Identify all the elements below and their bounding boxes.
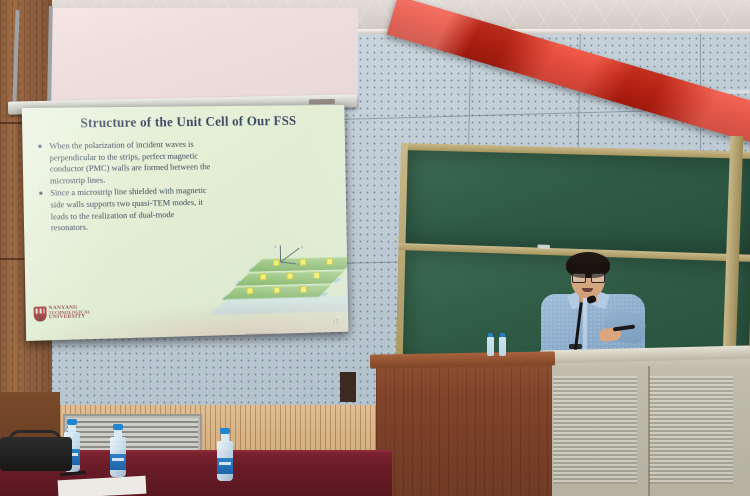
slide-bullet-list: When the polarization of incident waves … bbox=[36, 139, 212, 236]
paper-sheet bbox=[58, 476, 147, 496]
bullet-marker-icon bbox=[39, 192, 42, 195]
svg-text:y: y bbox=[301, 244, 303, 249]
fss-stack-diagram: z y x bbox=[217, 253, 348, 317]
chair-back bbox=[340, 372, 356, 402]
lecture-hall-photo: Structure of the Unit Cell of Our FSS Wh… bbox=[0, 0, 750, 496]
slide-title: Structure of the Unit Cell of Our FSS bbox=[44, 113, 332, 132]
ntu-line3: UNIVERSITY bbox=[49, 315, 91, 321]
ntu-logo: NANYANG TECHNOLOGICAL UNIVERSITY bbox=[34, 304, 92, 321]
chalkboard-clip bbox=[538, 245, 550, 249]
bullet-marker-icon bbox=[38, 145, 41, 148]
water-bottle bbox=[487, 337, 494, 356]
roller-badge bbox=[309, 99, 335, 105]
chalkboard-panel-upper bbox=[406, 150, 750, 255]
svg-text:z: z bbox=[275, 244, 277, 249]
water-bottle bbox=[499, 337, 506, 356]
water-bottle bbox=[217, 441, 233, 481]
side-desk bbox=[376, 360, 552, 496]
bullet-item: Since a microstrip line shielded with ma… bbox=[37, 185, 212, 234]
slide-page-number: 15 bbox=[332, 318, 338, 325]
lectern-panel-divider bbox=[648, 366, 650, 496]
glasses-icon bbox=[572, 273, 604, 281]
laptop-bag bbox=[0, 437, 72, 471]
bullet-text: Since a microstrip line shielded with ma… bbox=[50, 185, 206, 232]
water-bottle bbox=[110, 437, 126, 477]
presentation-slide: Structure of the Unit Cell of Our FSS Wh… bbox=[22, 105, 349, 341]
bullet-text: When the polarization of incident waves … bbox=[49, 139, 210, 185]
bullet-item: When the polarization of incident waves … bbox=[36, 139, 211, 187]
ntu-wordmark: NANYANG TECHNOLOGICAL UNIVERSITY bbox=[48, 305, 90, 320]
projection-screen-surface bbox=[50, 8, 358, 104]
ntu-crest-icon bbox=[34, 306, 47, 321]
axis-triad-icon: z y x bbox=[274, 242, 307, 266]
svg-text:x: x bbox=[297, 262, 299, 266]
